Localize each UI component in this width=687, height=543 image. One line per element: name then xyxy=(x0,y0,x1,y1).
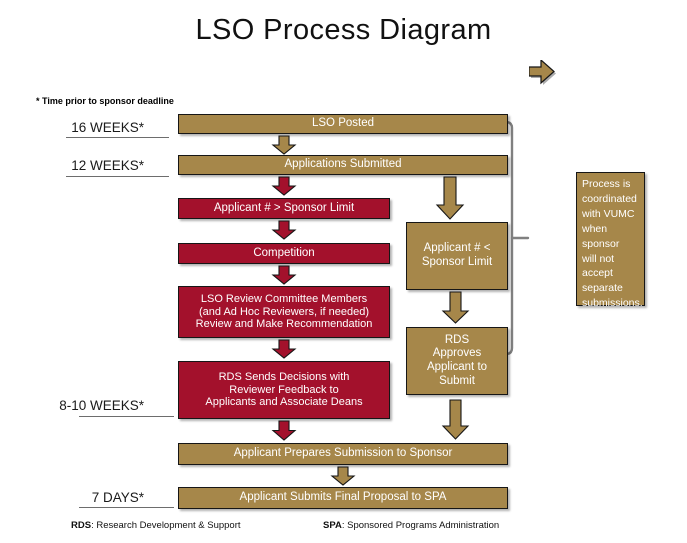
legend-rds: RDS: Research Development & Support xyxy=(71,520,241,531)
process-box-label: Applications Submitted xyxy=(179,158,507,172)
arrow-right-icon xyxy=(529,60,559,92)
process-box-line: Approves xyxy=(433,347,482,359)
side-note-line: Process is xyxy=(582,178,630,190)
process-box-label: Applicant Prepares Submission to Sponsor xyxy=(179,447,507,461)
process-box-rds-sends-decisions[interactable]: RDS Sends Decisions with Reviewer Feedba… xyxy=(178,361,390,419)
side-note-line: submissions. xyxy=(582,297,643,309)
process-box-line: Sponsor Limit xyxy=(422,256,492,268)
time-label-12-weeks: 12 WEEKS* xyxy=(24,158,144,173)
flow-arrow-tan-branch xyxy=(443,400,469,440)
page-title: LSO Process Diagram xyxy=(0,14,687,47)
side-note-line: when sponsor xyxy=(582,223,619,250)
time-label-8-10-weeks: 8-10 WEEKS* xyxy=(4,398,144,413)
legend-rds-text: : Research Development & Support xyxy=(91,520,240,531)
flow-arrow-tan-branch xyxy=(436,177,464,220)
process-box-line: RDS Sends Decisions with xyxy=(219,371,350,383)
process-box-applicant-submits[interactable]: Applicant Submits Final Proposal to SPA xyxy=(178,487,508,509)
process-box-applicant-gt-limit[interactable]: Applicant # > Sponsor Limit xyxy=(178,198,390,219)
process-box-line: LSO Review Committee Members xyxy=(201,293,367,305)
legend-spa-text: : Sponsored Programs Administration xyxy=(342,520,499,531)
legend-spa: SPA: Sponsored Programs Administration xyxy=(323,520,499,531)
process-box-line: Applicant # < xyxy=(424,242,491,254)
flow-arrow-crimson xyxy=(272,340,296,359)
process-box-label: Applicant Submits Final Proposal to SPA xyxy=(179,491,507,505)
process-box-applicant-lt-limit[interactable]: Applicant # < Sponsor Limit xyxy=(406,222,508,290)
flow-arrow-crimson xyxy=(272,421,296,441)
process-box-lso-posted[interactable]: LSO Posted xyxy=(178,114,508,134)
process-box-label: Competition xyxy=(179,247,389,261)
process-box-label: LSO Posted xyxy=(179,117,507,131)
flow-arrow-crimson xyxy=(272,266,296,285)
flow-arrow-tan-branch xyxy=(443,292,469,324)
process-box-label: Applicant # < Sponsor Limit xyxy=(407,242,507,269)
time-label-16-weeks: 16 WEEKS* xyxy=(24,120,144,135)
side-note-vumc[interactable]: Process is coordinated with VUMC when sp… xyxy=(576,172,645,306)
process-box-label: LSO Review Committee Members (and Ad Hoc… xyxy=(179,293,389,332)
process-box-line: (and Ad Hoc Reviewers, if needed) xyxy=(199,306,369,318)
diagram-canvas: LSO Process Diagram * Time prior to spon… xyxy=(0,0,687,543)
side-note-line: separate xyxy=(582,282,623,294)
process-box-lso-review-committee[interactable]: LSO Review Committee Members (and Ad Hoc… xyxy=(178,286,390,338)
process-box-applicant-prepares[interactable]: Applicant Prepares Submission to Sponsor xyxy=(178,443,508,465)
process-box-applications-submitted[interactable]: Applications Submitted xyxy=(178,155,508,175)
time-rule-7-days xyxy=(79,507,174,508)
side-note-label: Process is coordinated with VUMC when sp… xyxy=(577,173,646,311)
footnote-time-prior: * Time prior to sponsor deadline xyxy=(36,96,174,106)
flow-arrow-tan xyxy=(331,467,355,486)
process-box-label: Applicant # > Sponsor Limit xyxy=(179,202,389,216)
process-box-label: RDS Sends Decisions with Reviewer Feedba… xyxy=(179,371,389,410)
time-rule-8-10-weeks xyxy=(79,416,174,417)
process-box-line: Review and Make Recommendation xyxy=(196,318,373,330)
flow-arrow-crimson xyxy=(272,177,296,196)
time-label-7-days: 7 DAYS* xyxy=(24,490,144,505)
process-box-line: Submit xyxy=(439,375,475,387)
process-box-rds-approves[interactable]: RDS Approves Applicant to Submit xyxy=(406,327,508,395)
flow-arrow-tan xyxy=(272,136,296,155)
time-rule-12-weeks xyxy=(66,176,169,177)
side-note-line: will not xyxy=(582,253,614,265)
legend-rds-abbr: RDS xyxy=(71,520,91,531)
side-note-line: coordinated xyxy=(582,193,637,205)
legend-spa-abbr: SPA xyxy=(323,520,342,531)
process-box-competition[interactable]: Competition xyxy=(178,243,390,264)
process-box-line: Applicant to xyxy=(427,361,487,373)
process-box-line: Reviewer Feedback to xyxy=(229,384,338,396)
side-note-line: accept xyxy=(582,267,613,279)
side-note-line: with VUMC xyxy=(582,208,635,220)
time-rule-16-weeks xyxy=(66,137,169,138)
process-box-label: RDS Approves Applicant to Submit xyxy=(407,334,507,388)
process-box-line: Applicants and Associate Deans xyxy=(205,396,362,408)
flow-arrow-crimson xyxy=(272,221,296,240)
process-box-line: RDS xyxy=(445,334,469,346)
